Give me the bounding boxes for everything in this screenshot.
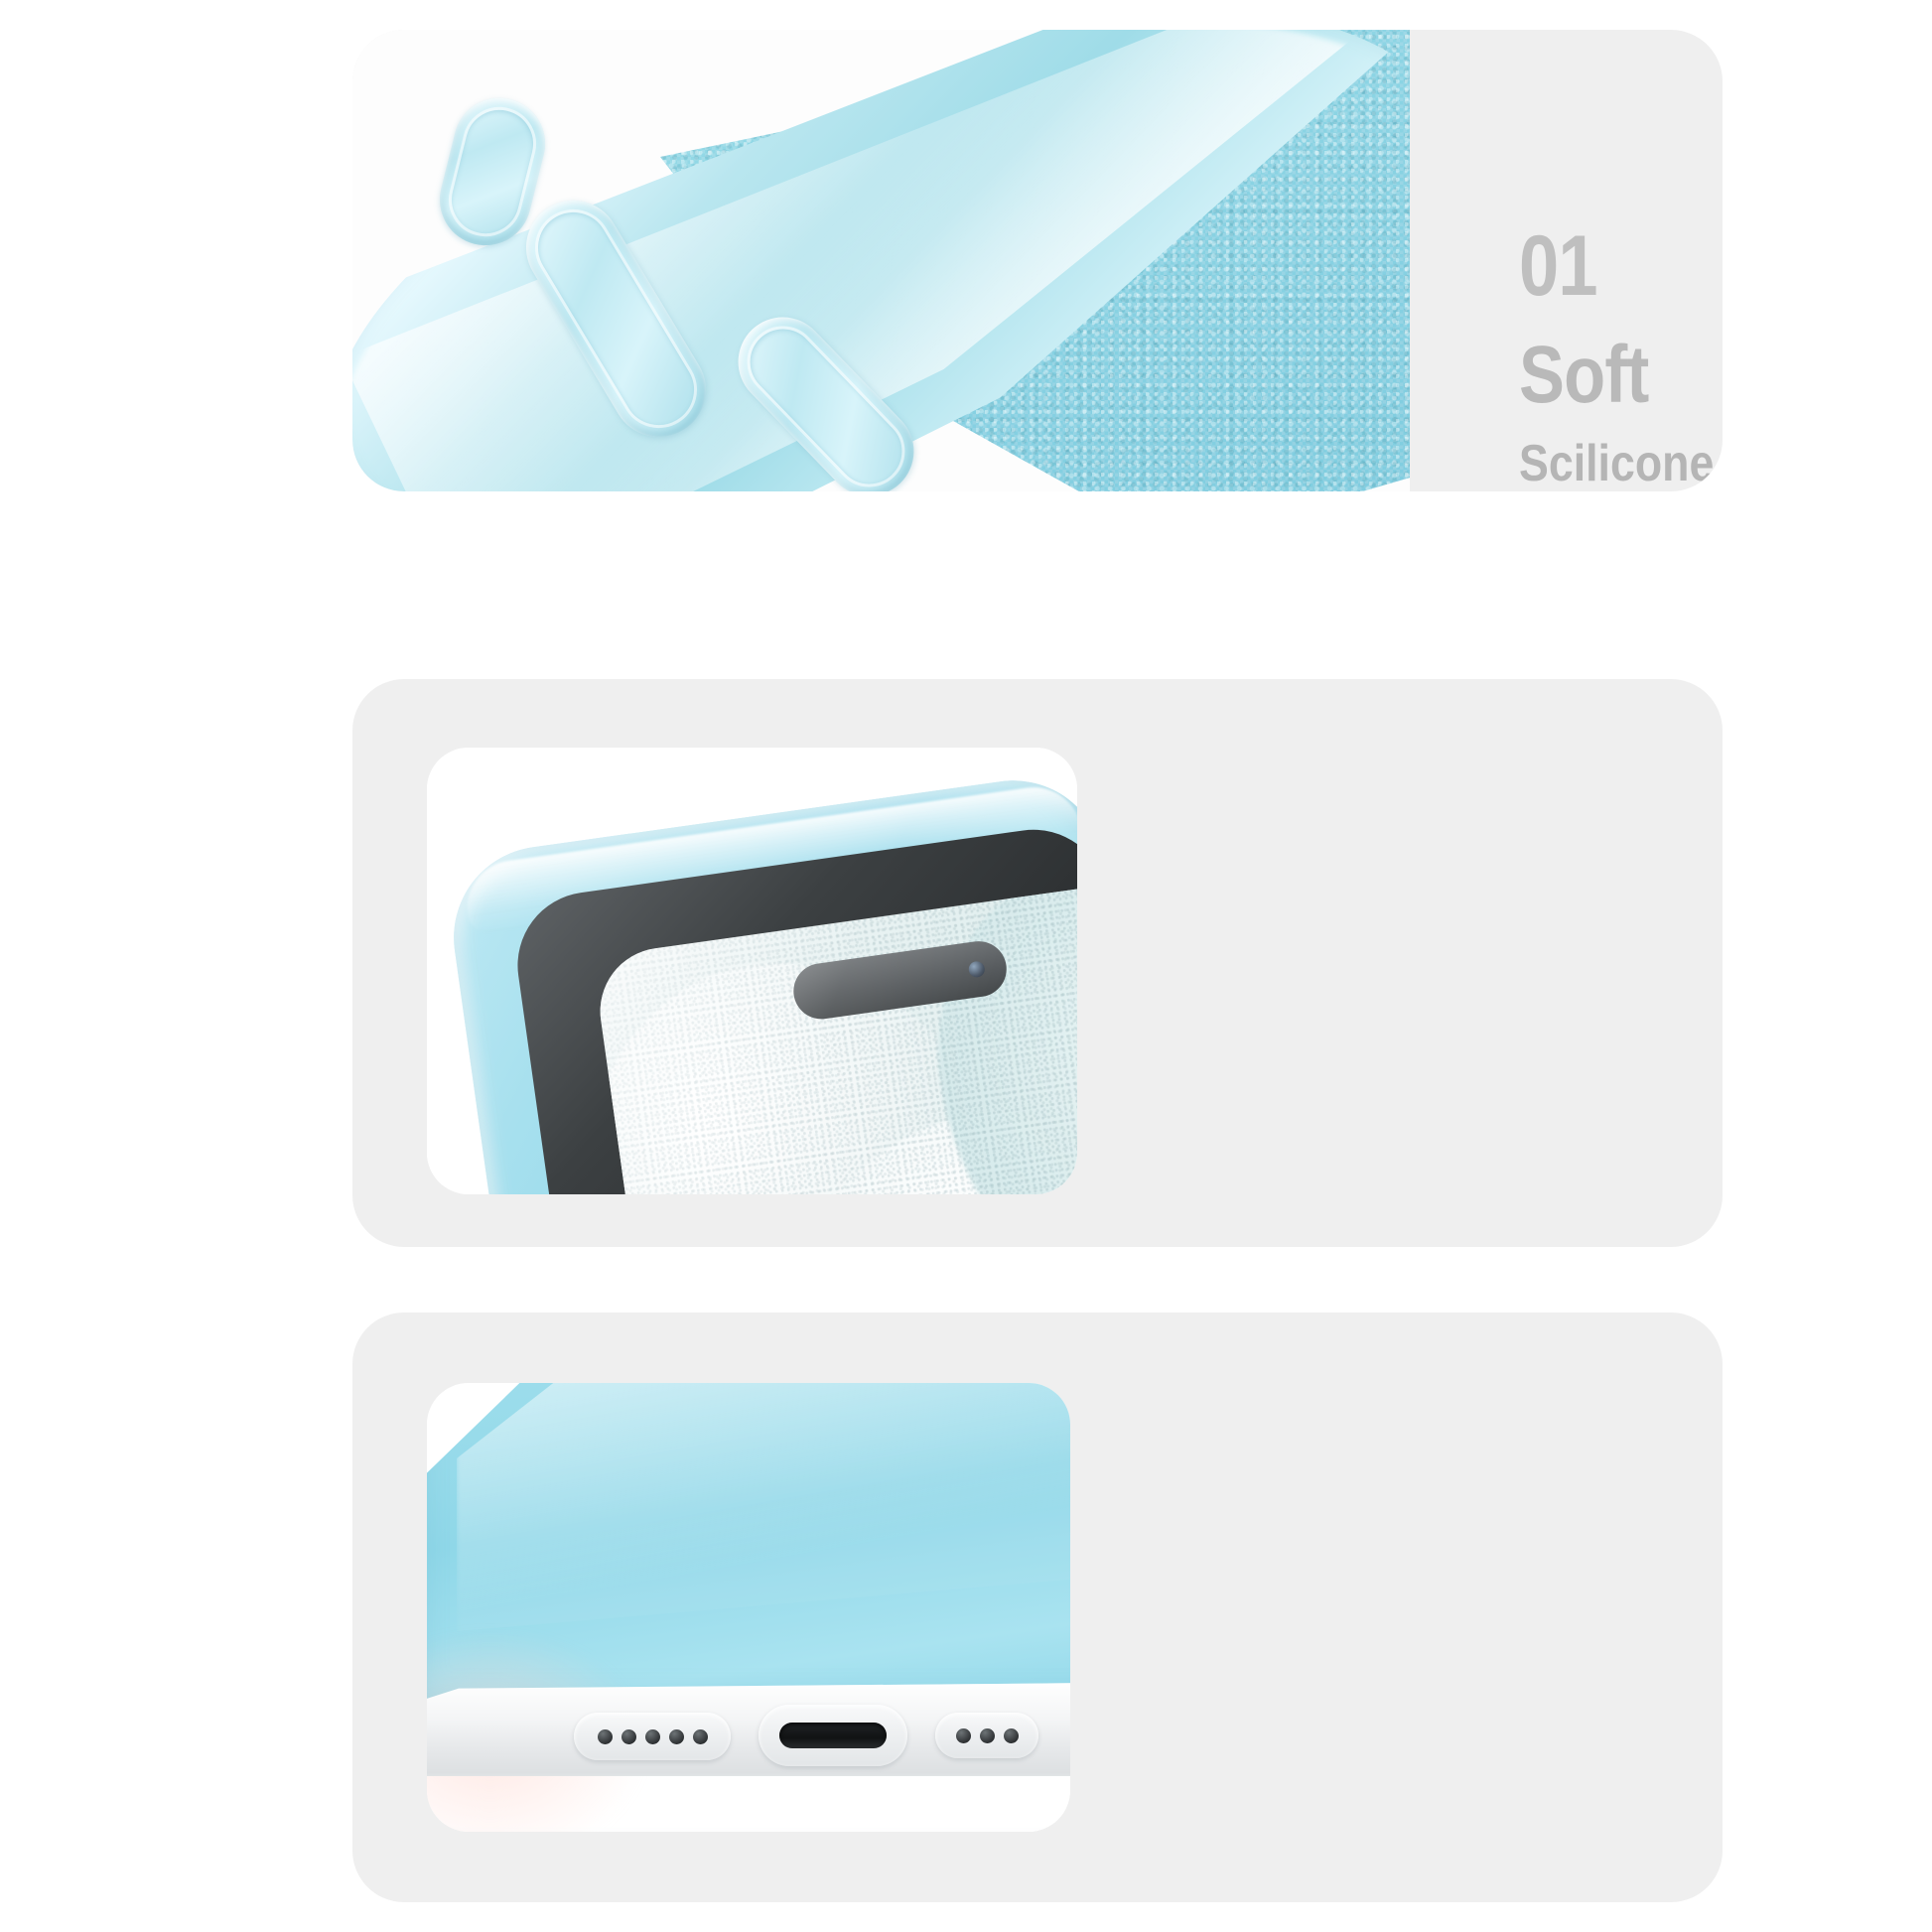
feature-caption-01: 01 Soft Scilicone Button <box>1519 223 1723 489</box>
speaker-hole <box>693 1729 708 1744</box>
feature-photo-01 <box>352 30 1410 491</box>
speaker-grille-right-cutout <box>935 1713 1038 1758</box>
speaker-hole <box>1004 1728 1019 1743</box>
surface-reflection <box>427 1776 1070 1832</box>
speaker-hole <box>645 1729 660 1744</box>
reflection-frame <box>427 1830 1070 1832</box>
feature-title-01: Soft <box>1519 335 1723 416</box>
feature-card-03: 03 1 : 1 Precise Cutout Case <box>352 1312 1723 1902</box>
screen-protection-image <box>427 748 1077 1194</box>
feature-photo-02 <box>427 748 1077 1194</box>
feature-infographic-page: 01 Soft Scilicone Button <box>0 0 1932 1932</box>
silicone-button-macro-image <box>352 30 1410 491</box>
screen-glass-sheen <box>592 879 1077 1194</box>
speaker-hole <box>598 1729 613 1744</box>
feature-subtitle-01: Scilicone Button <box>1519 438 1723 489</box>
usb-c-port-cutout <box>759 1705 907 1766</box>
speaker-hole <box>956 1728 971 1743</box>
usb-c-slot <box>779 1723 887 1748</box>
speaker-hole <box>621 1729 636 1744</box>
phone-screen <box>592 879 1077 1194</box>
speaker-hole <box>669 1729 684 1744</box>
feature-card-01: 01 Soft Scilicone Button <box>352 30 1723 491</box>
speaker-grille-left-cutout <box>574 1713 731 1760</box>
precise-cutout-image <box>427 1383 1070 1832</box>
feature-photo-03 <box>427 1383 1070 1832</box>
feature-card-02: 02 Enhanced Screen Protection <box>352 679 1723 1247</box>
speaker-hole <box>980 1728 995 1743</box>
feature-number-01: 01 <box>1519 223 1723 309</box>
phone-front-view <box>442 763 1077 1194</box>
